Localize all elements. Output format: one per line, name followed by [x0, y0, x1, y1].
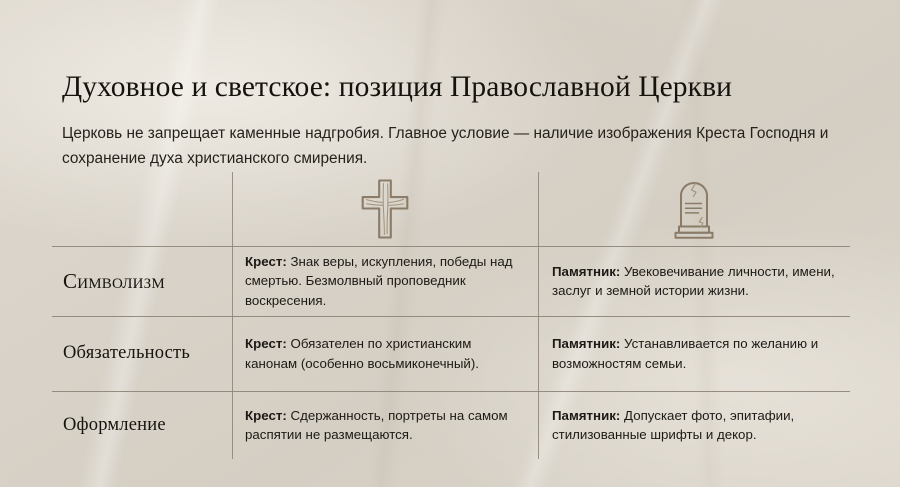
cross-icon — [357, 177, 413, 241]
table-cell-cross: Крест: Обязателен по христианским канона… — [232, 316, 538, 391]
page-title: Духовное и светское: позиция Православно… — [62, 69, 862, 105]
slide-canvas: Духовное и светское: позиция Православно… — [0, 0, 900, 487]
table-header-cell-monument — [538, 172, 850, 246]
table-row-label: Обязательность — [52, 316, 232, 391]
table-cell-cross: Крест: Знак веры, искупления, победы над… — [232, 246, 538, 316]
gravestone-icon — [666, 178, 722, 240]
table-header-cell-cross — [232, 172, 538, 246]
cell-lead-label: Памятник: — [552, 264, 620, 279]
table-cell-monument: Памятник: Устанавливается по желанию и в… — [538, 316, 850, 391]
table-cell-monument: Памятник: Увековечивание личности, имени… — [538, 246, 850, 316]
page-subtitle: Церковь не запрещает каменные надгробия.… — [62, 121, 852, 171]
cell-lead-label: Крест: — [245, 336, 287, 351]
comparison-table: Символизм Крест: Знак веры, искупления, … — [52, 172, 850, 459]
cell-lead-label: Крест: — [245, 408, 287, 423]
table-cell-monument: Памятник: Допускает фото, эпитафии, стил… — [538, 391, 850, 459]
table-cell-cross: Крест: Сдержанность, портреты на самом р… — [232, 391, 538, 459]
table-row-label: Символизм — [52, 246, 232, 316]
cell-lead-label: Крест: — [245, 254, 287, 269]
cell-lead-label: Памятник: — [552, 408, 620, 423]
cell-lead-label: Памятник: — [552, 336, 620, 351]
table-row-label: Оформление — [52, 391, 232, 459]
